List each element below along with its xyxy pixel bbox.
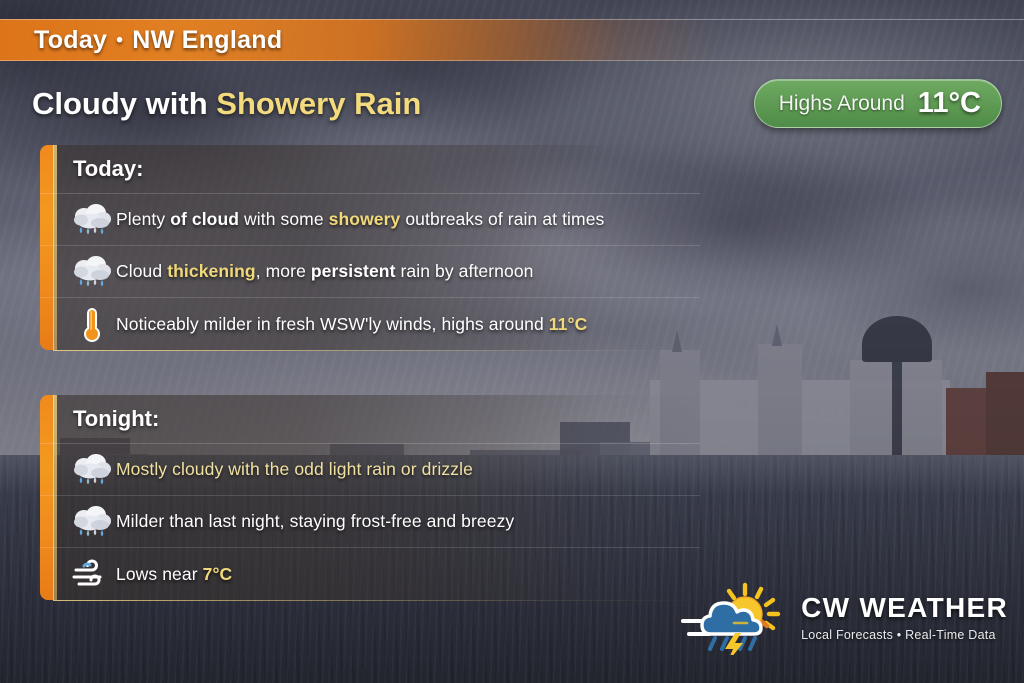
forecast-row-icon xyxy=(68,502,116,542)
panel-rows: Mostly cloudy with the odd light rain or… xyxy=(40,444,700,600)
forecast-row: Mostly cloudy with the odd light rain or… xyxy=(40,444,700,496)
location-region: NW England xyxy=(132,26,282,54)
location-separator: • xyxy=(116,30,123,51)
sun-cloud-lightning-icon xyxy=(681,581,789,655)
highs-badge: Highs Around 11°C xyxy=(754,79,1002,128)
forecast-row-text: Plenty of cloud with some showery outbre… xyxy=(116,209,604,230)
forecast-row-icon xyxy=(68,554,116,594)
forecast-row-text: Noticeably milder in fresh WSW'ly winds,… xyxy=(116,314,587,335)
forecast-row: Milder than last night, staying frost-fr… xyxy=(40,496,700,548)
forecast-row: Noticeably milder in fresh WSW'ly winds,… xyxy=(40,298,700,350)
forecast-row-icon xyxy=(68,304,116,344)
rain-cloud-icon xyxy=(70,252,114,292)
forecast-row: Plenty of cloud with some showery outbre… xyxy=(40,194,700,246)
rain-cloud-icon xyxy=(70,502,114,542)
logo-tagline: Local Forecasts • Real-Time Data xyxy=(801,629,1008,642)
panel-bottom-rule xyxy=(53,600,700,601)
forecast-row-icon xyxy=(68,450,116,490)
headline: Cloudy with Showery Rain xyxy=(32,86,421,122)
headline-prefix: Cloudy with xyxy=(32,86,216,121)
rain-cloud-icon xyxy=(70,450,114,490)
panel-title: Tonight: xyxy=(40,395,700,444)
rain-cloud-icon xyxy=(70,200,114,240)
forecast-panel-today: Today: Plenty of cloud with some showery… xyxy=(40,145,700,350)
forecast-row-text: Mostly cloudy with the odd light rain or… xyxy=(116,459,473,480)
forecast-row-text: Cloud thickening, more persistent rain b… xyxy=(116,261,534,282)
highs-badge-value: 11°C xyxy=(918,87,981,120)
location-day: Today xyxy=(34,26,107,54)
forecast-row: Lows near 7°C xyxy=(40,548,700,600)
headline-accent: Showery Rain xyxy=(216,86,421,121)
channel-logo: CW WEATHER Local Forecasts • Real-Time D… xyxy=(681,581,1008,655)
forecast-row-text: Milder than last night, staying frost-fr… xyxy=(116,511,514,532)
wind-icon xyxy=(70,554,114,594)
location-label: Today•NW England xyxy=(34,26,282,55)
location-bar: Today•NW England xyxy=(0,19,1024,61)
forecast-row: Cloud thickening, more persistent rain b… xyxy=(40,246,700,298)
forecast-row-icon xyxy=(68,252,116,292)
logo-name: CW WEATHER xyxy=(801,594,1008,622)
panel-title: Today: xyxy=(40,145,700,194)
thermometer-icon xyxy=(70,304,114,344)
panel-bottom-rule xyxy=(53,350,700,351)
forecast-row-text: Lows near 7°C xyxy=(116,564,232,585)
highs-badge-label: Highs Around xyxy=(779,92,905,116)
forecast-row-icon xyxy=(68,200,116,240)
forecast-panel-tonight: Tonight: Mostly cloudy with the odd ligh… xyxy=(40,395,700,600)
weather-graphic: Today•NW England Cloudy with Showery Rai… xyxy=(0,0,1024,683)
panel-rows: Plenty of cloud with some showery outbre… xyxy=(40,194,700,350)
